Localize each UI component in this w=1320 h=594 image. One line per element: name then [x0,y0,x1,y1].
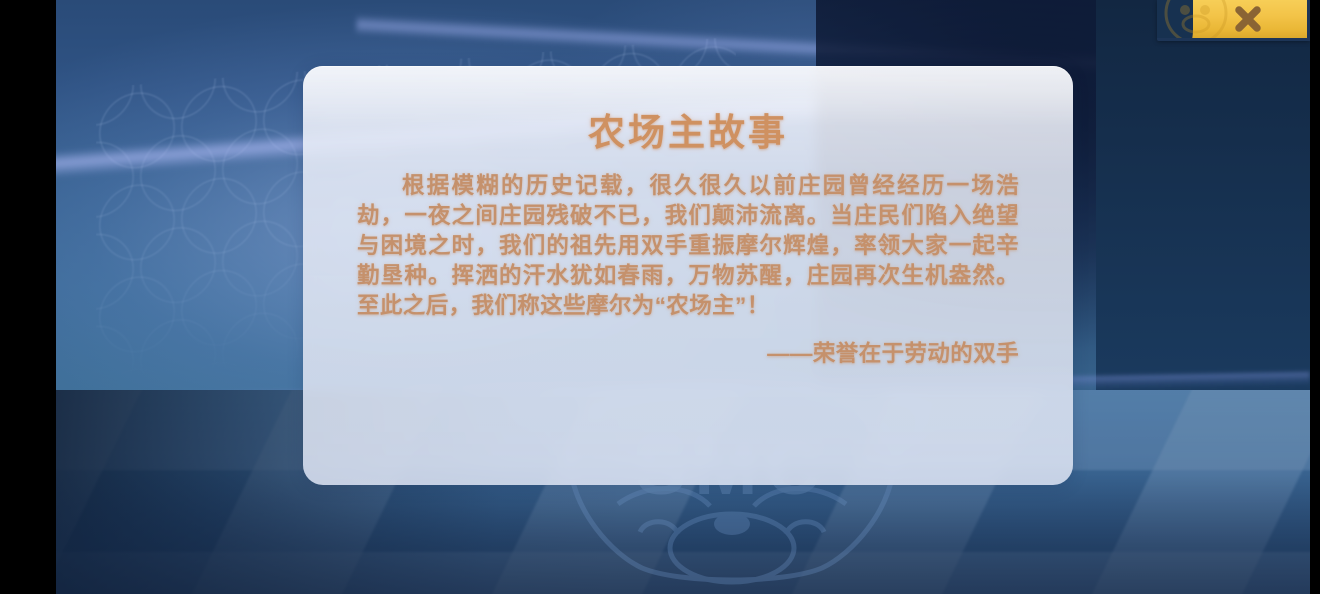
mole-face-icon [1163,0,1229,41]
close-button[interactable] [1157,0,1310,41]
letterbox-bar-left [0,0,56,594]
floor-shadow-bottom [56,474,1310,594]
close-icon[interactable] [1231,2,1265,36]
game-screen: SMC 农场主故事 根据模糊的历史记载，很久很久以前庄园曾经经历一场浩劫，一夜之… [0,0,1320,594]
dialog-body: 根据模糊的历史记载，很久很久以前庄园曾经经历一场浩劫，一夜之间庄园残破不已，我们… [357,171,1019,369]
dialog-title: 农场主故事 [303,102,1073,156]
story-paragraph: 根据模糊的历史记载，很久很久以前庄园曾经经历一场浩劫，一夜之间庄园残破不已，我们… [357,171,1019,321]
story-attribution: ——荣誉在于劳动的双手 [357,339,1019,369]
letterbox-bar-right [1310,0,1320,594]
farmer-story-dialog: 农场主故事 根据模糊的历史记载，很久很久以前庄园曾经经历一场浩劫，一夜之间庄园残… [303,66,1073,485]
